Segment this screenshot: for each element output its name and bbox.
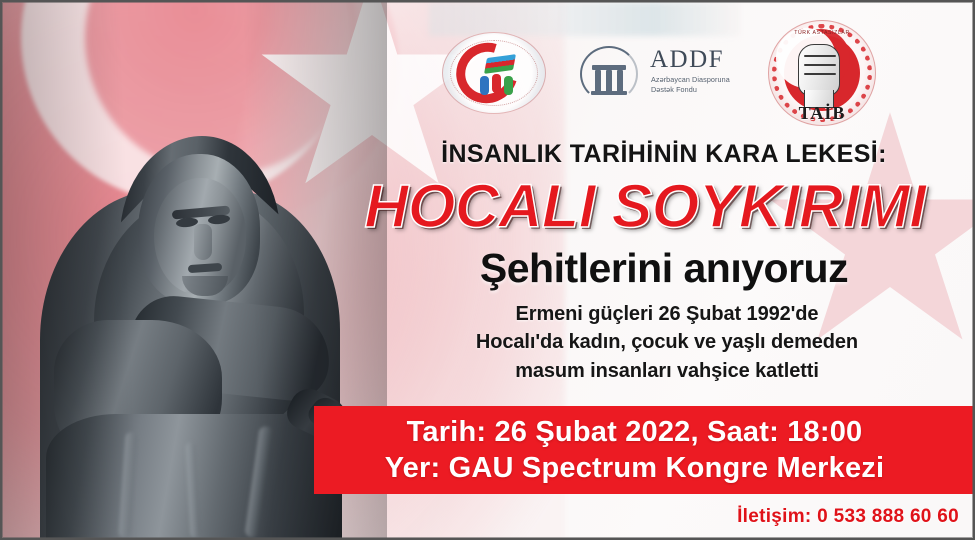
columns-arch-icon	[580, 46, 642, 104]
child-figure-icon	[504, 76, 513, 95]
addf-logo: ADDF Azərbaycan Diasporuna Dəstək Fondu	[580, 42, 750, 108]
contact-phone: İletişim: 0 533 888 60 60	[2, 506, 959, 528]
qht-emblem-logo	[442, 32, 546, 114]
body-line: masum insanları vahşice katletti	[372, 357, 962, 385]
commemoration-poster: ADDF Azərbaycan Diasporuna Dəstək Fondu …	[0, 0, 975, 540]
body-line: Ermeni güçleri 26 Şubat 1992'de	[372, 300, 962, 328]
taib-arc-text: TÜRK ASTASIZLAR	[768, 30, 876, 36]
poster-body-copy: Ermeni güçleri 26 Şubat 1992'de Hocalı'd…	[372, 300, 962, 385]
addf-subtitle: Azərbaycan Diasporuna Dəstək Fondu	[651, 75, 751, 94]
event-venue: Yer: GAU Spectrum Kongre Merkezi	[314, 452, 955, 485]
child-figure-icon	[480, 76, 489, 95]
event-details-banner: Tarih: 26 Şubat 2022, Saat: 18:00 Yer: G…	[314, 406, 975, 494]
taib-label: TAİB	[768, 103, 876, 124]
addf-name: ADDF	[650, 46, 724, 74]
poster-headline: HOCALI SOYKIRIMI	[320, 174, 970, 238]
poster-subheadline: Şehitlerini anıyoruz	[354, 245, 974, 292]
poster-kicker: İNSANLIK TARİHİNİN KARA LEKESİ:	[374, 140, 954, 169]
body-line: Hocalı'da kadın, çocuk ve yaşlı demeden	[372, 328, 962, 356]
taib-emblem-logo: TÜRK ASTASIZLAR TAİB	[768, 20, 876, 126]
child-figure-icon	[492, 74, 501, 93]
logo-row: ADDF Azərbaycan Diasporuna Dəstək Fondu …	[432, 20, 892, 128]
event-date-time: Tarih: 26 Şubat 2022, Saat: 18:00	[314, 416, 955, 449]
raised-fist-icon	[798, 44, 840, 96]
